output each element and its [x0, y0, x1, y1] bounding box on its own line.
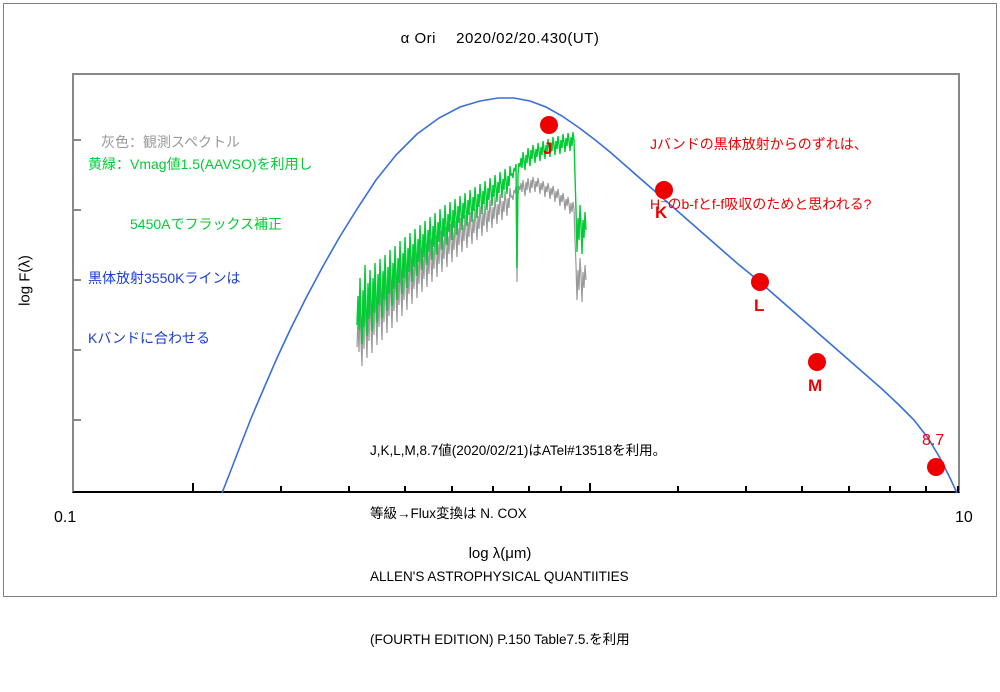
annotation-green-line1: 黄緑：Vmag値1.5(AAVSO)を利用し: [88, 154, 313, 174]
annotation-red-line1: Jバンドの黒体放射からのずれは、: [650, 134, 871, 154]
chart-page: α Ori 2020/02/20.430(UT): [0, 0, 1000, 600]
annotation-red-line2: H⁻のb-fとf-f吸収のためと思われる?: [650, 194, 871, 214]
annotation-black-line2: 等級→Flux変換は N. COX: [370, 503, 666, 524]
x-tick-label-high: 10: [955, 509, 973, 527]
point-j[interactable]: [540, 116, 558, 134]
annotation-blue-line1: 黒体放射3550Kラインは: [88, 268, 240, 288]
point-label-8-7: 8.7: [922, 432, 944, 450]
point-8-7[interactable]: [927, 458, 945, 476]
point-label-l: L: [754, 296, 764, 316]
point-label-j: J: [543, 139, 552, 159]
annotation-black-line1: J,K,L,M,8.7値(2020/02/21)はATel#13518を利用。: [370, 440, 666, 461]
annotation-j-band-deviation: Jバンドの黒体放射からのずれは、 H⁻のb-fとf-f吸収のためと思われる?: [650, 94, 871, 254]
annotation-blue-line2: Kバンドに合わせる: [88, 328, 240, 348]
annotation-black-line4: (FOURTH EDITION) P.150 Table7.5.を利用: [370, 629, 666, 650]
y-axis-title: log F(λ): [17, 231, 34, 331]
annotation-blackbody: 黒体放射3550Kラインは Kバンドに合わせる: [88, 228, 240, 388]
point-l[interactable]: [751, 273, 769, 291]
x-axis-title: log λ(μm): [0, 545, 1000, 562]
point-label-m: M: [808, 376, 822, 396]
y-axis-ticks: [73, 140, 81, 420]
annotation-black-line3: ALLEN'S ASTROPHYSICAL QUANTIITIES: [370, 566, 666, 587]
x-tick-label-low: 0.1: [54, 509, 76, 527]
point-m[interactable]: [808, 353, 826, 371]
